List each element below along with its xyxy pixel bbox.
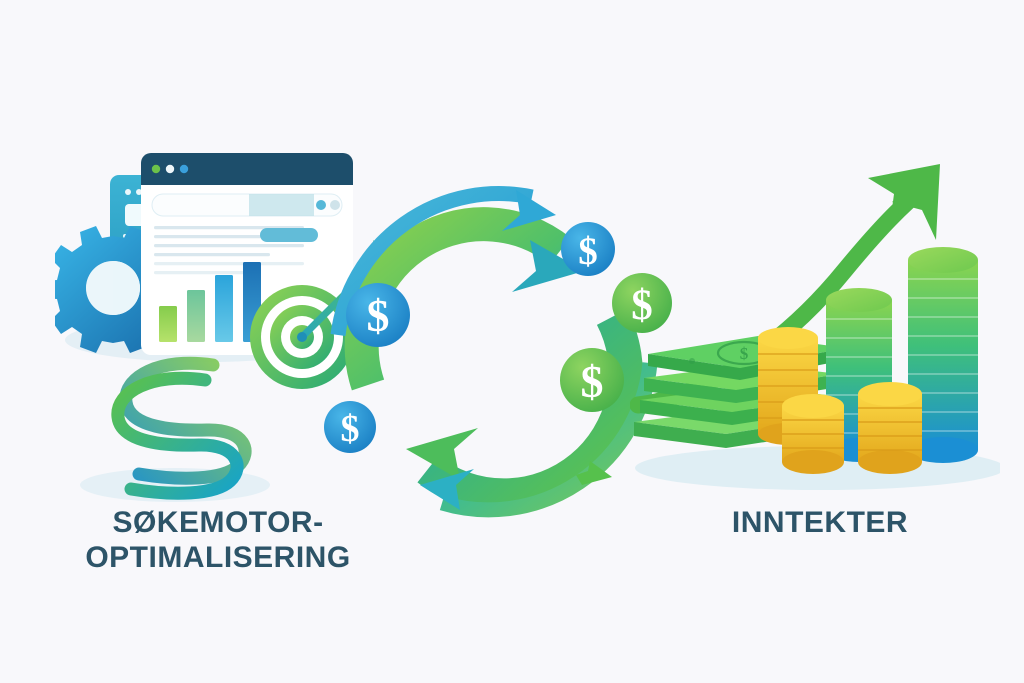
seo-label-line1: SØKEMOTOR- [112, 506, 323, 539]
window-dot-blue [180, 165, 188, 173]
stack-gold-front-left [782, 394, 844, 474]
coin-left-upper: $ [346, 283, 410, 347]
s-tube-logo [118, 363, 245, 493]
stack-gold-front-right [858, 382, 922, 474]
svg-text:$: $ [578, 230, 598, 273]
coin-left-lower: $ [324, 401, 376, 453]
window-dot-light [166, 165, 174, 173]
revenue-label: INNTEKTER [655, 505, 985, 540]
revenue-illustration: $ [630, 150, 1000, 500]
window-dot-green [152, 165, 160, 173]
seo-label: SØKEMOTOR- OPTIMALISERING [38, 505, 398, 576]
svg-text:$: $ [341, 408, 360, 450]
svg-text:$: $ [581, 356, 604, 407]
seo-label-line2: OPTIMALISERING [38, 540, 398, 575]
svg-text:$: $ [367, 290, 390, 341]
svg-text:$: $ [740, 344, 749, 363]
illustration-canvas: $ $ $ $ $ [0, 0, 1024, 683]
coin-top-right: $ [561, 222, 615, 276]
coin-center-right: $ [560, 348, 624, 412]
